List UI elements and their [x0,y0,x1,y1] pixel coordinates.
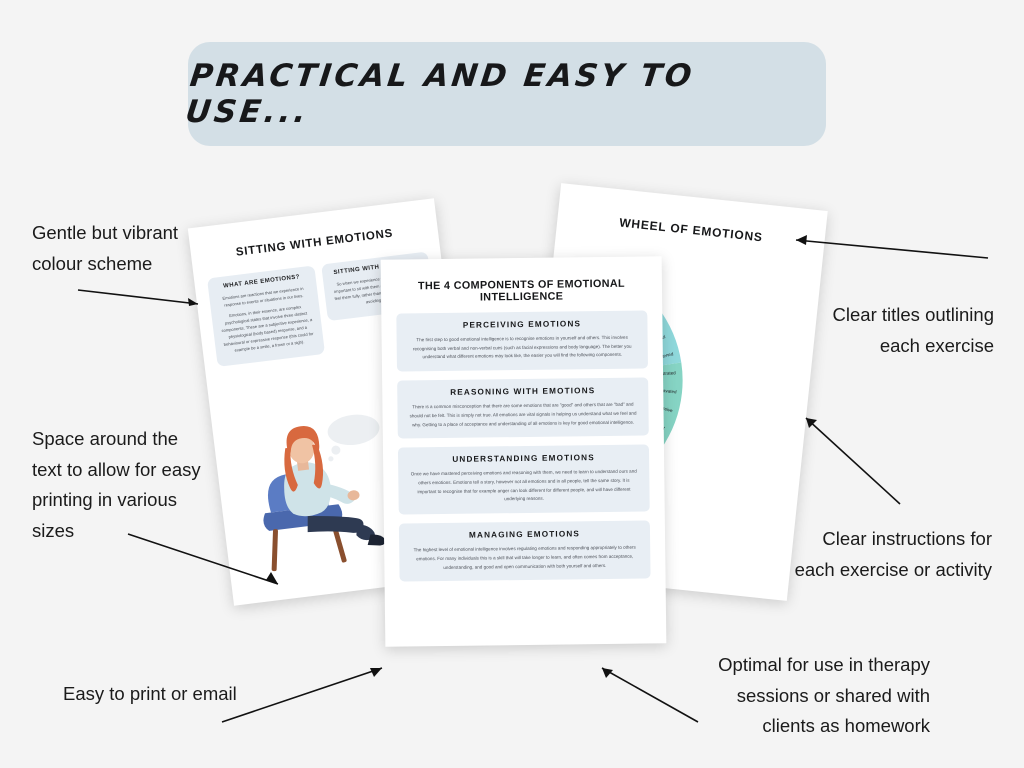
annotation-optimal-therapy: Optimal for use in therapy sessions or s… [692,650,930,742]
annotation-space-around-text: Space around the text to allow for easy … [32,424,237,546]
section-managing-emotions: MANAGING EMOTIONS The highest level of e… [399,521,651,582]
annotation-clear-titles: Clear titles outlining each exercise [782,300,994,361]
section-3-heading: UNDERSTANDING EMOTIONS [410,453,637,465]
section-1-body: The first step to good emotional intelli… [409,334,636,363]
section-perceiving-emotions: PERCEIVING EMOTIONS The first step to go… [396,310,648,371]
section-reasoning-with-emotions: REASONING WITH EMOTIONS There is a commo… [397,378,649,439]
arrow-easy-to-print [222,664,392,728]
annotation-clear-instructions: Clear instructions for each exercise or … [770,524,992,585]
doc-left-box-1: WHAT ARE EMOTIONS? Emotions are reaction… [207,265,325,367]
section-1-heading: PERCEIVING EMOTIONS [408,319,635,331]
doc-right-title: WHEEL OF EMOTIONS [557,209,825,251]
doc-center-title: THE 4 COMPONENTS OF EMOTIONAL INTELLIGEN… [381,277,662,304]
arrow-space-around-text [128,534,288,592]
section-2-heading: REASONING WITH EMOTIONS [409,386,636,398]
section-4-heading: MANAGING EMOTIONS [411,529,638,541]
arrow-clear-instructions [800,412,910,512]
arrow-optimal-therapy [598,664,708,728]
header-banner: PRACTICAL AND EASY TO USE... [188,42,826,146]
doc-left-box-1-para-2: Emotions, in their essence, are complex … [219,302,315,355]
section-2-body: There is a common misconception that the… [409,401,636,430]
section-3-body: Once we have mastered perceiving emotion… [410,468,637,506]
arrow-clear-titles [788,232,996,266]
document-4-components[interactable]: THE 4 COMPONENTS OF EMOTIONAL INTELLIGEN… [381,256,667,646]
section-understanding-emotions: UNDERSTANDING EMOTIONS Once we have mast… [398,445,650,515]
arrow-gentle-colour-scheme [78,288,208,310]
section-4-body: The highest level of emotional intellige… [411,544,638,573]
annotation-gentle-colour-scheme: Gentle but vibrant colour scheme [32,218,242,279]
banner-title: PRACTICAL AND EASY TO USE... [184,58,831,130]
